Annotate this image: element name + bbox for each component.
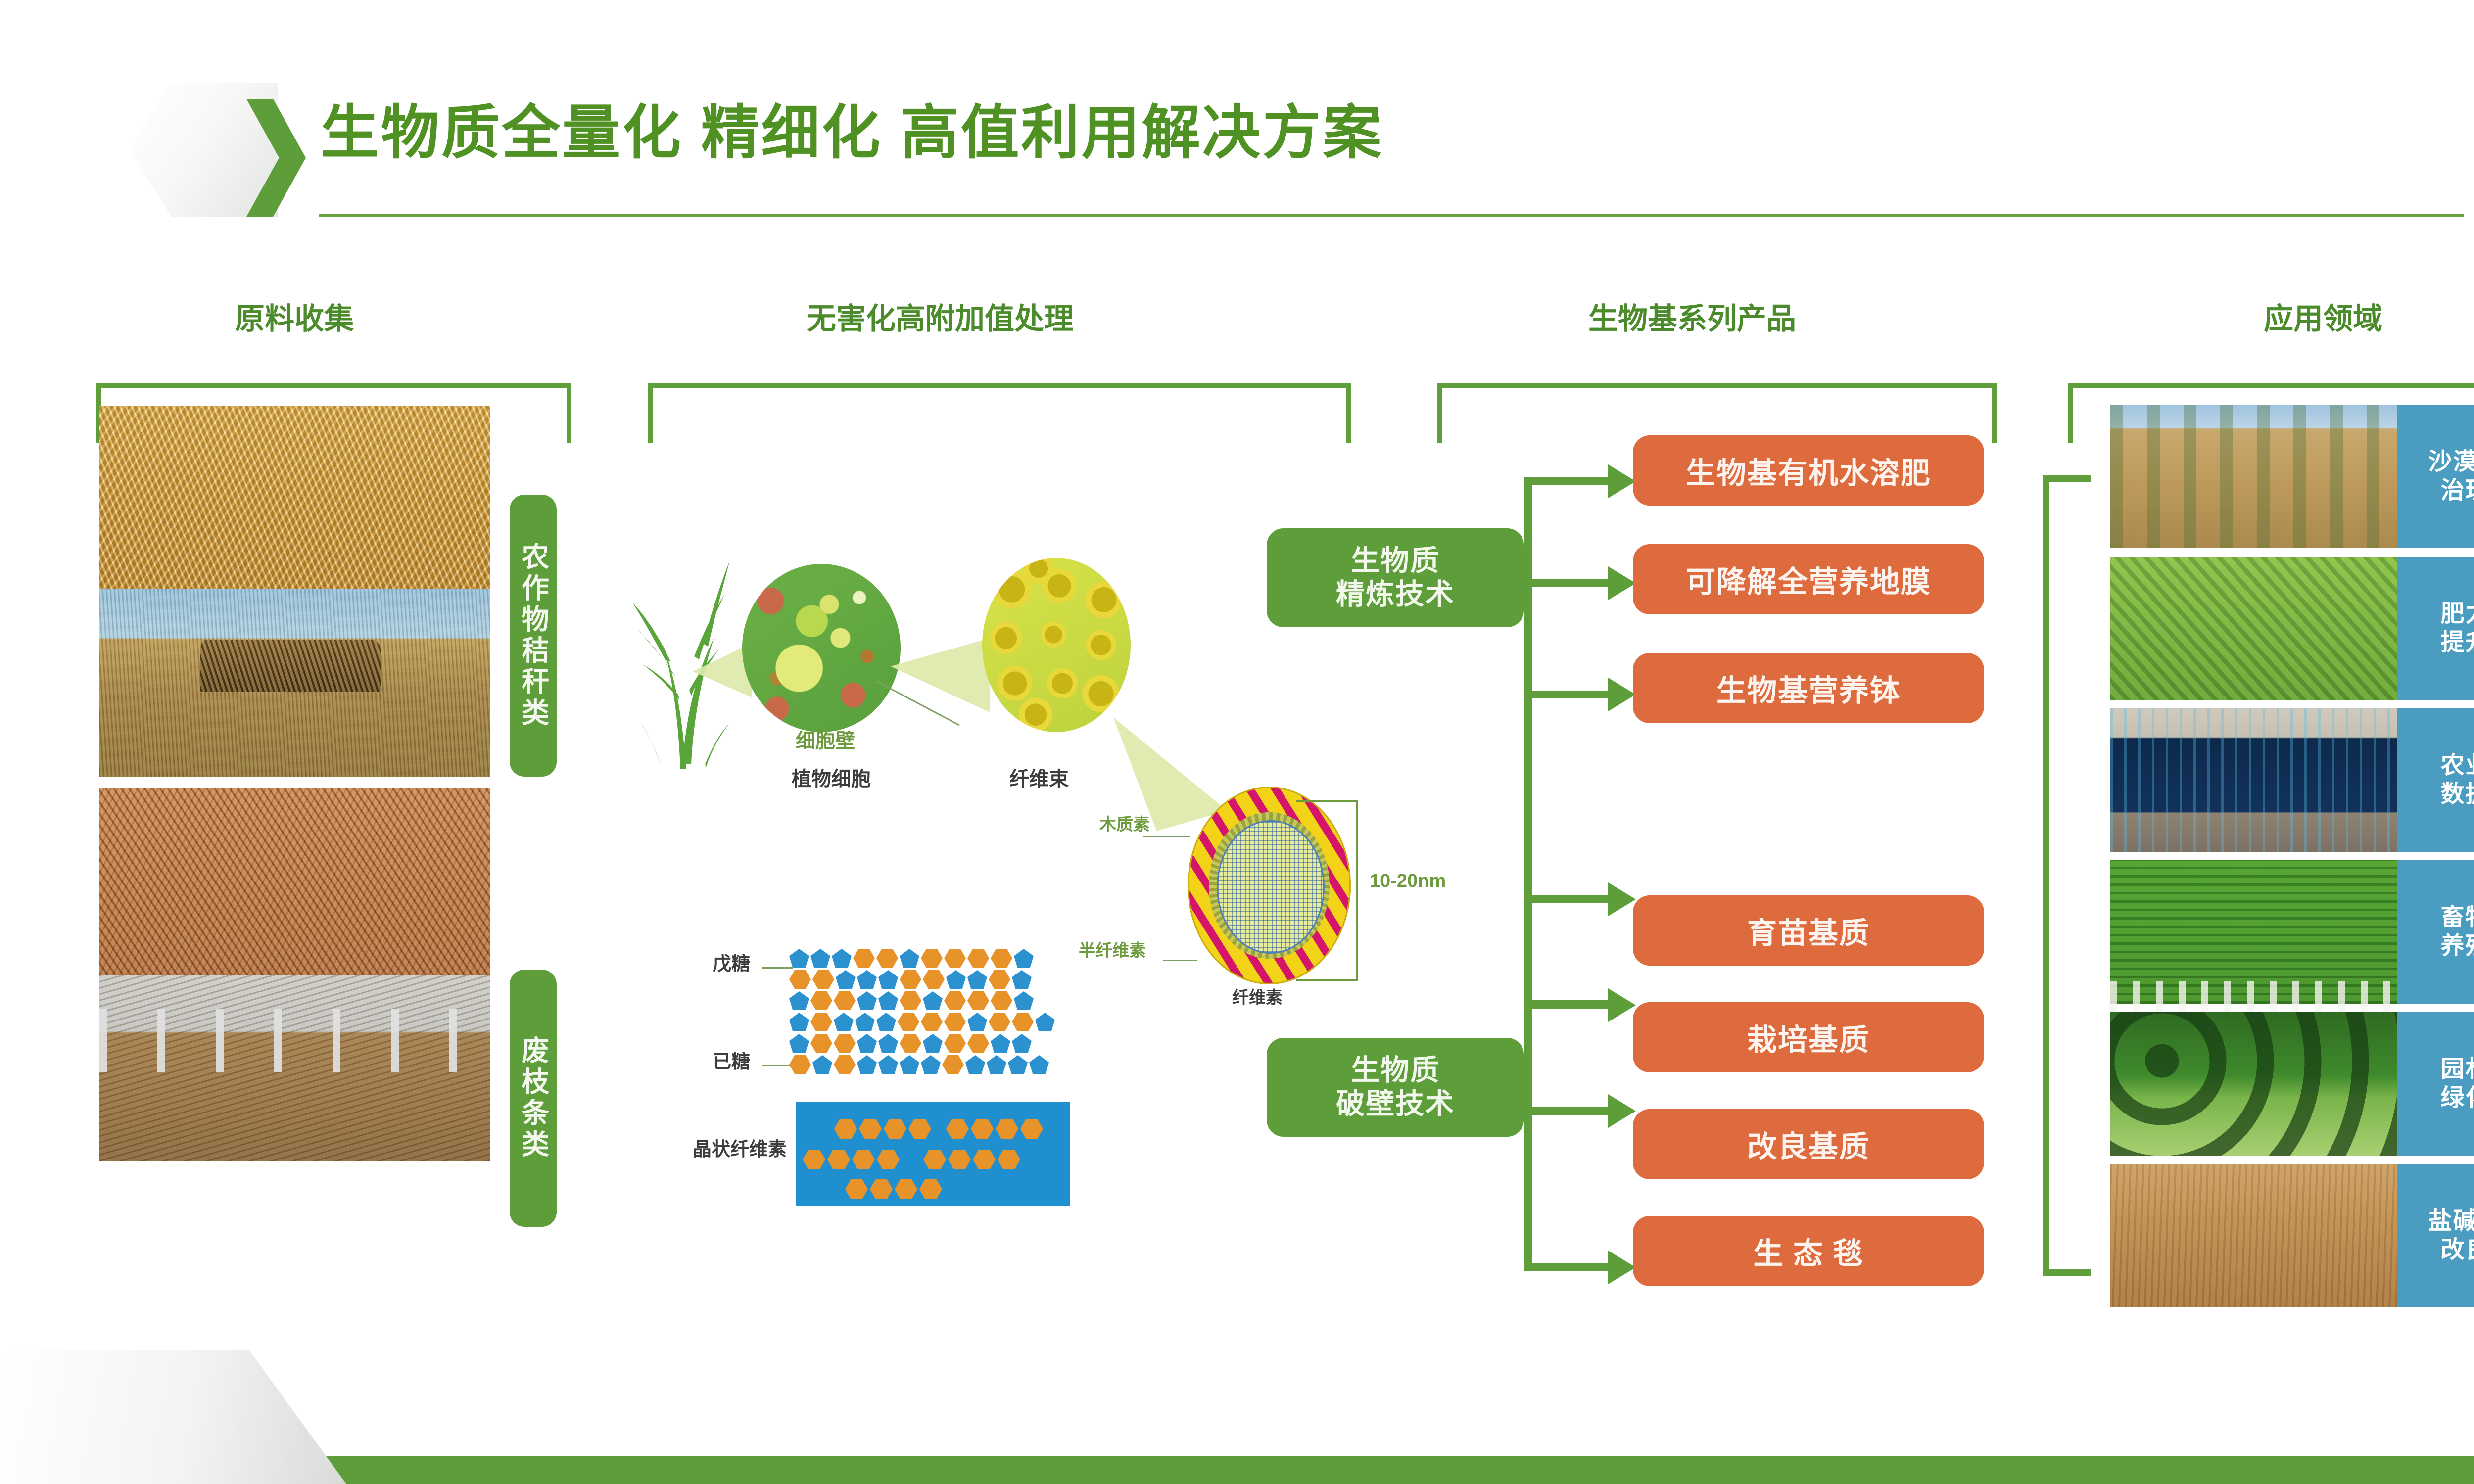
cellulose-label: 纤维素 [1232, 989, 1283, 1006]
lignin-label: 木质素 [1099, 816, 1150, 833]
grass-plant-icon [631, 532, 735, 774]
arrow-head-w2 [1608, 988, 1636, 1022]
connector-branch-w2 [1524, 1001, 1618, 1009]
plant-cell-diagram [742, 564, 901, 732]
application-tag-livestock: 畜牧 养殖 [2397, 860, 2474, 1004]
app-tag-line-2: 养殖 [2440, 932, 2474, 961]
straw-bale-photo [99, 589, 490, 777]
fiber-bundle-diagram [982, 558, 1131, 732]
arrow-head-w3 [1608, 1094, 1636, 1128]
section-heading-collection: 原料收集 [171, 304, 418, 334]
section-heading-applications: 应用领域 [2110, 304, 2474, 334]
cell-wall-label: 细胞壁 [796, 731, 855, 751]
product-pill-nutrient-pot[interactable]: 生物基营养钵 [1633, 653, 1984, 723]
fiber-cross-section-diagram [1188, 787, 1351, 984]
hexose-leader-line [762, 1065, 793, 1066]
arrow-head-w1 [1608, 882, 1636, 916]
product-pill-improvement-substrate[interactable]: 改良基质 [1633, 1109, 1984, 1179]
lignin-leader-line [1143, 836, 1190, 837]
tech-line-2: 破壁技术 [1336, 1087, 1455, 1121]
app-tag-line-2: 治理 [2440, 476, 2474, 505]
application-row-livestock[interactable]: 畜牧 养殖 [2110, 860, 2474, 1004]
arrow-head-r1 [1608, 464, 1636, 498]
orchard-pruning-photo [99, 975, 490, 1161]
hexose-label: 已糖 [713, 1053, 750, 1071]
desert-greening-photo [2110, 405, 2397, 548]
tech-line-1: 生物质 [1351, 544, 1440, 578]
app-tag-line-1: 沙漠化 [2428, 448, 2474, 476]
connector-branch-r1 [1524, 477, 1618, 485]
waste-branch-label: 废枝条类 [510, 970, 557, 1227]
connector-branch-w4 [1524, 1263, 1618, 1271]
application-tag-agriculture-data: 农业 数据 [2397, 708, 2474, 852]
dimension-bar [1356, 800, 1358, 981]
crystalline-cellulose-diagram [796, 1102, 1070, 1206]
application-row-fertility[interactable]: 肥力 提升 [2110, 556, 2474, 700]
corn-stalk-photo [99, 406, 490, 589]
app-tag-line-1: 畜牧 [2440, 903, 2474, 932]
footer-wedge-decoration [0, 1350, 346, 1484]
plant-cell-label: 植物细胞 [792, 769, 871, 789]
app-tag-line-2: 数据 [2440, 780, 2474, 809]
app-tag-line-1: 农业 [2440, 751, 2474, 780]
application-tag-fertility: 肥力 提升 [2397, 556, 2474, 700]
connector-branch-w3 [1524, 1107, 1618, 1115]
footer-bar [0, 1456, 2474, 1484]
section-heading-processing: 无害化高附加值处理 [648, 304, 1232, 334]
sugar-chain-diagram [789, 949, 1091, 1077]
application-tag-desertification: 沙漠化 治理 [2397, 405, 2474, 548]
pentose-label: 戊糖 [713, 955, 750, 974]
application-tag-saline: 盐碱地 改良 [2397, 1164, 2474, 1307]
pentose-leader-line [762, 967, 793, 969]
product-pill-cultivation-substrate[interactable]: 栽培基质 [1633, 1002, 1984, 1072]
grazing-sheep-photo [2110, 860, 2397, 1004]
bracket-processing [648, 383, 1351, 443]
product-pill-seedling-substrate[interactable]: 育苗基质 [1633, 895, 1984, 966]
park-trees-photo [2110, 1012, 2397, 1156]
crystalline-cellulose-label: 晶状纤维素 [693, 1140, 787, 1159]
magnify-cone-2 [891, 638, 990, 712]
application-row-agriculture-data[interactable]: 农业 数据 [2110, 708, 2474, 852]
dimension-tick-top [1296, 800, 1358, 802]
connector-branch-r3b [1524, 691, 1618, 698]
feedstock-photo-column [99, 406, 490, 1161]
application-row-desertification[interactable]: 沙漠化 治理 [2110, 405, 2474, 548]
saline-soil-photo [2110, 1164, 2397, 1307]
product-pill-ecological-blanket[interactable]: 生 态 毯 [1633, 1216, 1984, 1286]
biomass-refining-tech-box[interactable]: 生物质 精炼技术 [1267, 528, 1524, 627]
hemicellulose-leader-line [1163, 960, 1197, 961]
tech-line-2: 精炼技术 [1336, 578, 1455, 611]
cabbage-field-photo [2110, 556, 2397, 700]
product-pill-biodegradable-mulch[interactable]: 可降解全营养地膜 [1633, 544, 1984, 614]
bracket-products [1437, 383, 1997, 443]
arrow-head-r2 [1608, 566, 1636, 600]
dimension-label: 10-20nm [1370, 872, 1446, 890]
section-heading-products: 生物基系列产品 [1445, 304, 1940, 334]
arrow-head-w4 [1608, 1251, 1636, 1284]
app-tag-line-2: 改良 [2440, 1236, 2474, 1264]
tech-line-1: 生物质 [1351, 1054, 1440, 1087]
app-tag-line-1: 盐碱地 [2428, 1207, 2474, 1236]
application-row-saline[interactable]: 盐碱地 改良 [2110, 1164, 2474, 1307]
product-pill-organic-fertilizer[interactable]: 生物基有机水溶肥 [1633, 435, 1984, 506]
application-row-landscape[interactable]: 园林 绿化 [2110, 1012, 2474, 1156]
crop-straw-label: 农作物秸秆类 [510, 495, 557, 777]
connector-branch-r2 [1524, 579, 1618, 587]
waste-branch-photo [99, 788, 490, 975]
application-tag-landscape: 园林 绿化 [2397, 1012, 2474, 1156]
slide-canvas: 生物质全量化 精细化 高值利用解决方案 原料收集 无害化高附加值处理 生物基系列… [0, 0, 2474, 1484]
connector-branch-w1 [1524, 895, 1618, 903]
app-tag-line-1: 肥力 [2440, 600, 2474, 628]
biomass-wall-breaking-tech-box[interactable]: 生物质 破壁技术 [1267, 1038, 1524, 1137]
app-tag-line-2: 绿化 [2440, 1084, 2474, 1113]
magnify-cone-3 [1113, 717, 1227, 831]
title-divider [319, 214, 2464, 217]
fiber-bundle-label: 纤维束 [1009, 769, 1069, 789]
app-tag-line-1: 园林 [2440, 1055, 2474, 1084]
page-title: 生物质全量化 精细化 高值利用解决方案 [321, 104, 1383, 162]
connector-trunk-wall [1524, 895, 1532, 1271]
control-room-photo [2110, 708, 2397, 852]
applications-bracket [2043, 475, 2091, 1276]
app-tag-line-2: 提升 [2440, 628, 2474, 657]
dimension-tick-bottom [1296, 979, 1358, 981]
